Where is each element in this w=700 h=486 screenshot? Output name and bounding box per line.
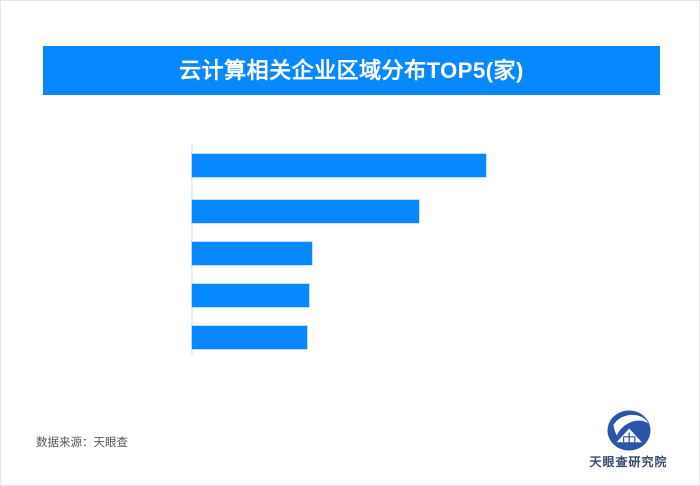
bar-4 [192, 326, 307, 349]
bar-0 [192, 154, 486, 177]
bar-2 [192, 242, 312, 265]
brand-logo: 天眼查研究院 [576, 409, 681, 475]
brand-logo-text: 天眼查研究院 [589, 453, 667, 470]
bar-3 [192, 284, 309, 307]
bar-1 [192, 200, 419, 223]
chart-card: 云计算相关企业区域分布TOP5(家) 北京市 广东省 福建省 浙江省 江苏省 数… [0, 0, 700, 486]
tianyancha-logo-icon [606, 409, 652, 451]
data-source-note: 数据来源：天眼查 [36, 434, 128, 450]
